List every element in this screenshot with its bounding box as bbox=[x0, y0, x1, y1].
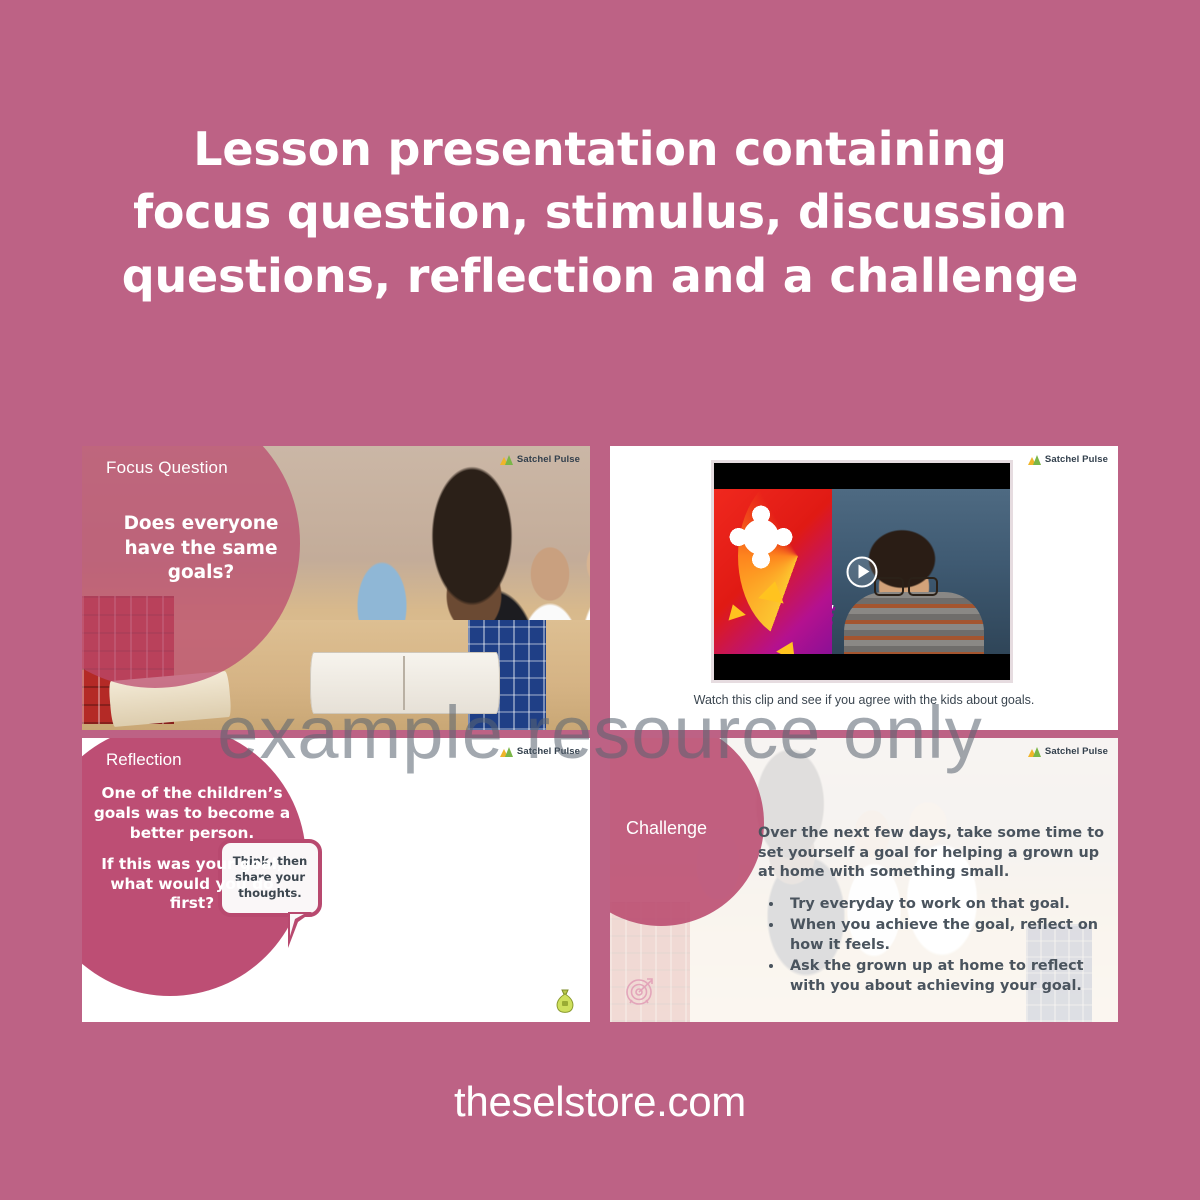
open-book bbox=[310, 652, 500, 714]
glasses-icon bbox=[874, 577, 938, 592]
slide-kicker-focus-question: Focus Question bbox=[106, 458, 228, 478]
mountain-icon bbox=[500, 455, 513, 465]
mountain-icon bbox=[500, 747, 513, 757]
list-item: Try everyday to work on that goal. bbox=[784, 895, 1108, 915]
play-button-icon[interactable] bbox=[847, 556, 878, 587]
child-sweater bbox=[844, 592, 984, 654]
reflection-body: One of the children’s goals was to becom… bbox=[88, 784, 296, 914]
brand-name: Satchel Pulse bbox=[517, 746, 580, 757]
satchel-pulse-logo: Satchel Pulse bbox=[500, 454, 580, 465]
challenge-intro: Over the next few days, take some time t… bbox=[758, 824, 1108, 883]
slide-reflection[interactable]: Reflection One of the children’s goals w… bbox=[82, 738, 590, 1022]
slide-kicker-challenge: Challenge bbox=[626, 818, 707, 839]
promo-graphic: Lesson presentation containing focus que… bbox=[0, 0, 1200, 1200]
money-bag-icon bbox=[554, 988, 576, 1014]
headline-line-1: Lesson presentation containing bbox=[60, 118, 1140, 181]
headline-line-2: focus question, stimulus, discussion bbox=[60, 181, 1140, 244]
brand-name: Satchel Pulse bbox=[1045, 746, 1108, 757]
letterbox-bar-top bbox=[714, 463, 1010, 489]
brand-name: Satchel Pulse bbox=[517, 454, 580, 465]
footer-url: theselstore.com bbox=[0, 1078, 1200, 1126]
headline-line-3: questions, reflection and a challenge bbox=[60, 245, 1140, 308]
satchel-pulse-logo: Satchel Pulse bbox=[1028, 454, 1108, 465]
slide-focus-question[interactable]: Focus Question Does everyone have the sa… bbox=[82, 446, 590, 730]
stimulus-caption: Watch this clip and see if you agree wit… bbox=[610, 693, 1118, 707]
star-icon bbox=[724, 602, 746, 621]
video-thumbnail[interactable]: FULL EPISODE bbox=[711, 460, 1013, 683]
letterbox-bar-bottom bbox=[714, 654, 1010, 680]
speech-bubble-tail bbox=[288, 912, 312, 948]
reflection-paragraph-1: One of the children’s goals was to becom… bbox=[88, 784, 296, 844]
page-title: Lesson presentation containing focus que… bbox=[60, 118, 1140, 308]
challenge-body: Over the next few days, take some time t… bbox=[758, 824, 1108, 999]
mountain-icon bbox=[1028, 747, 1041, 757]
slide-preview-grid: Focus Question Does everyone have the sa… bbox=[82, 446, 1118, 1022]
brand-name: Satchel Pulse bbox=[1045, 454, 1108, 465]
satchel-pulse-logo: Satchel Pulse bbox=[500, 746, 580, 757]
broadcaster-logo-icon bbox=[729, 505, 793, 569]
reflection-paragraph-2: If this was your goal, what would you do… bbox=[88, 855, 296, 915]
broadcaster-badge bbox=[714, 489, 832, 654]
satchel-pulse-logo: Satchel Pulse bbox=[1028, 746, 1108, 757]
video-frame: FULL EPISODE bbox=[714, 463, 1010, 680]
focus-question-text: Does everyone have the same goals? bbox=[96, 512, 306, 586]
target-icon bbox=[624, 973, 658, 1012]
challenge-bullet-list: Try everyday to work on that goal. When … bbox=[784, 895, 1108, 997]
slide-challenge[interactable]: Challenge Over the next few days, take s… bbox=[610, 738, 1118, 1022]
mountain-icon bbox=[1028, 455, 1041, 465]
list-item: When you achieve the goal, reflect on ho… bbox=[784, 916, 1108, 955]
slide-stimulus[interactable]: FULL EPISODE Watch this clip and see if … bbox=[610, 446, 1118, 730]
list-item: Ask the grown up at home to reflect with… bbox=[784, 957, 1108, 996]
slide-kicker-reflection: Reflection bbox=[106, 750, 182, 770]
